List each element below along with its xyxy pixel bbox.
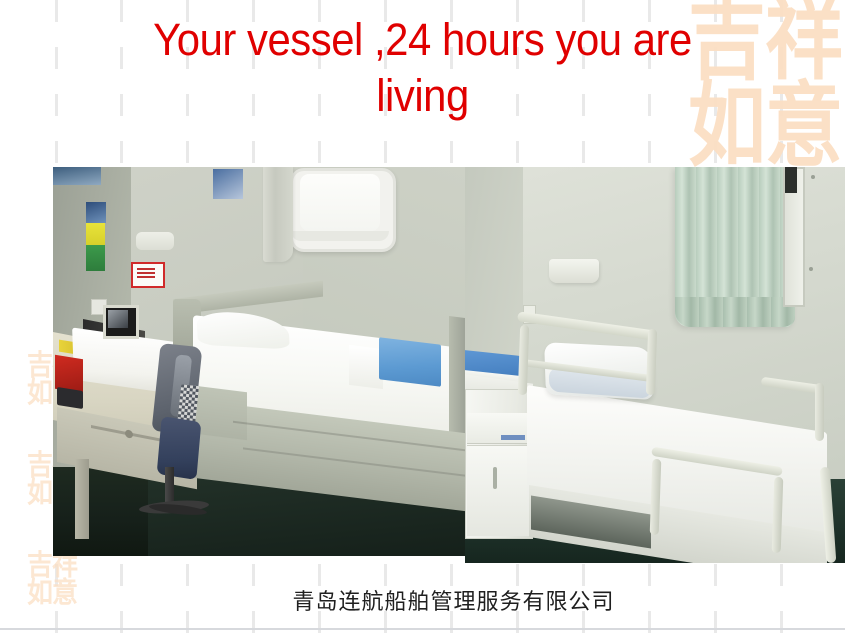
cabin-bed-notch [195, 386, 247, 440]
wall-poster-yellow [86, 223, 105, 245]
hospital-window-glass [785, 167, 797, 193]
hospital-nightstand-door [467, 445, 529, 536]
footer-divider [0, 628, 845, 630]
porthole-glass [300, 174, 380, 231]
hospital-wall-fitting [809, 267, 813, 271]
hospital-wall-fitting [811, 175, 815, 179]
cabin-curtain [263, 167, 293, 262]
cabin-wall-lamp [136, 232, 174, 250]
porthole-sill [291, 231, 389, 241]
wall-poster-green [86, 245, 105, 271]
hospital-nightstand-handle [493, 467, 497, 489]
wall-poster-center [213, 169, 243, 199]
slide-canvas: 吉祥如意 吉祥如意 吉祥如意 吉祥如意 Your vessel ,24 hour… [0, 0, 845, 635]
wall-poster-top [53, 167, 101, 185]
photo-row [53, 167, 845, 563]
wall-poster-blue [86, 202, 106, 223]
crew-cabin-photo [53, 167, 465, 556]
hospital-nightstand-label [501, 435, 525, 440]
hospital-wall-lamp [549, 259, 599, 283]
cabin-chair-seat [157, 416, 202, 480]
desk-photo-frame-image [108, 310, 128, 328]
cabin-desk-leg [75, 459, 89, 539]
safety-notice-sign [131, 262, 165, 288]
footer-company-name: 青岛连航船舶管理服务有限公司 [0, 584, 845, 616]
cabin-blue-towel [379, 337, 441, 387]
slide-title: Your vessel ,24 hours you are living [30, 12, 816, 124]
cabin-bed-sheet-fold [349, 345, 383, 389]
safety-notice-lines [137, 268, 155, 270]
ship-hospital-photo [465, 167, 845, 563]
hospital-bed-foot-post [815, 383, 824, 441]
hospital-curtain-hem [675, 297, 795, 327]
